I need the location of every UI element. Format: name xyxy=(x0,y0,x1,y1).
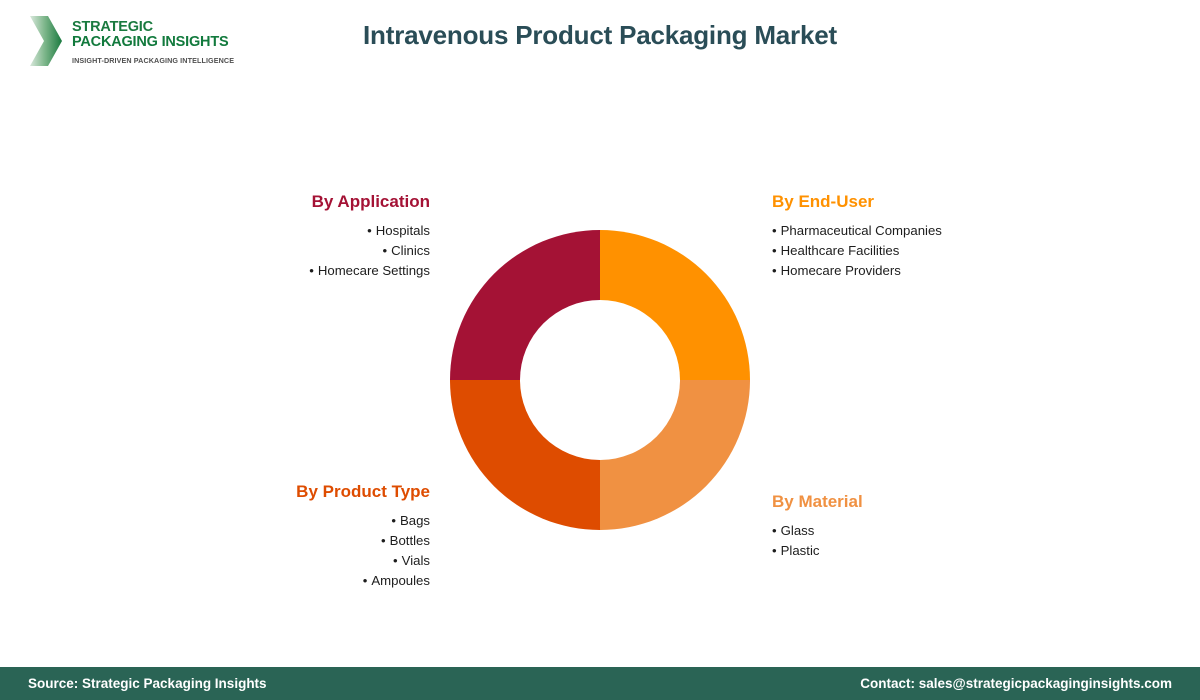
list-item-label: Ampoules xyxy=(371,573,430,588)
bullet-icon: • xyxy=(772,261,777,281)
list-item-label: Homecare Providers xyxy=(781,263,901,278)
list-item-label: Healthcare Facilities xyxy=(781,243,900,258)
list-item-label: Pharmaceutical Companies xyxy=(781,223,942,238)
list-item-label: Clinics xyxy=(391,243,430,258)
footer-contact[interactable]: Contact: sales@strategicpackaginginsight… xyxy=(860,676,1172,691)
bullet-icon: • xyxy=(383,241,388,261)
list-item: •Healthcare Facilities xyxy=(772,241,1032,261)
list-item: •Homecare Providers xyxy=(772,261,1032,281)
list-item-label: Bags xyxy=(400,513,430,528)
bullet-icon: • xyxy=(772,241,777,261)
donut-chart xyxy=(450,230,750,530)
bullet-icon: • xyxy=(381,531,386,551)
bullet-icon: • xyxy=(391,511,396,531)
segment-title-product-type: By Product Type xyxy=(200,482,430,502)
list-item: •Bottles xyxy=(200,531,430,551)
segment-block-application: By Application •Hospitals •Clinics •Home… xyxy=(200,192,430,281)
list-item: •Clinics xyxy=(200,241,430,261)
segment-block-end-user: By End-User •Pharmaceutical Companies •H… xyxy=(772,192,1032,281)
segment-block-product-type: By Product Type •Bags •Bottles •Vials •A… xyxy=(200,482,430,591)
list-item: •Plastic xyxy=(772,541,1032,561)
bullet-icon: • xyxy=(363,571,368,591)
bullet-icon: • xyxy=(772,521,777,541)
bullet-icon: • xyxy=(309,261,314,281)
bullet-icon: • xyxy=(772,541,777,561)
segment-title-application: By Application xyxy=(200,192,430,212)
list-item: •Hospitals xyxy=(200,221,430,241)
list-item: •Homecare Settings xyxy=(200,261,430,281)
list-item: •Ampoules xyxy=(200,571,430,591)
list-item-label: Glass xyxy=(781,523,815,538)
bullet-icon: • xyxy=(393,551,398,571)
list-item-label: Bottles xyxy=(390,533,430,548)
segment-title-material: By Material xyxy=(772,492,1032,512)
segment-title-end-user: By End-User xyxy=(772,192,1032,212)
list-item: •Bags xyxy=(200,511,430,531)
list-item-label: Vials xyxy=(402,553,430,568)
segment-list-material: •Glass •Plastic xyxy=(772,521,1032,561)
footer-bar: Source: Strategic Packaging Insights Con… xyxy=(0,667,1200,700)
bullet-icon: • xyxy=(367,221,372,241)
bullet-icon: • xyxy=(772,221,777,241)
segment-list-product-type: •Bags •Bottles •Vials •Ampoules xyxy=(200,511,430,591)
list-item: •Pharmaceutical Companies xyxy=(772,221,1032,241)
list-item-label: Homecare Settings xyxy=(318,263,430,278)
list-item-label: Plastic xyxy=(781,543,820,558)
list-item: •Glass xyxy=(772,521,1032,541)
footer-source: Source: Strategic Packaging Insights xyxy=(28,676,267,691)
list-item: •Vials xyxy=(200,551,430,571)
page-title: Intravenous Product Packaging Market xyxy=(0,20,1200,51)
donut-center-hole xyxy=(520,300,680,460)
segment-block-material: By Material •Glass •Plastic xyxy=(772,492,1032,561)
logo-tagline: INSIGHT-DRIVEN PACKAGING INTELLIGENCE xyxy=(72,56,234,65)
segment-list-end-user: •Pharmaceutical Companies •Healthcare Fa… xyxy=(772,221,1032,281)
segment-list-application: •Hospitals •Clinics •Homecare Settings xyxy=(200,221,430,281)
list-item-label: Hospitals xyxy=(376,223,430,238)
